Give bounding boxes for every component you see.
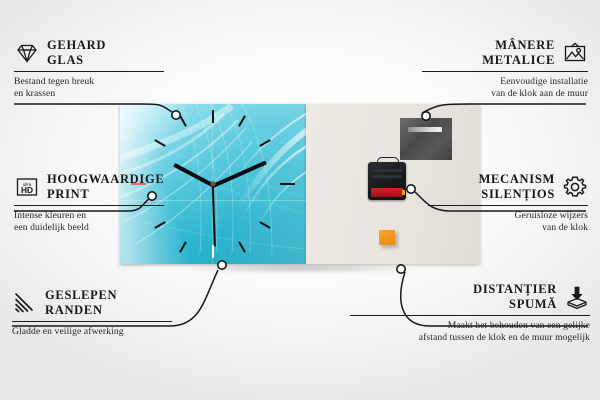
mechanism-hanging-bail	[377, 157, 399, 167]
feature-heading: MÂNERE METALICE	[422, 38, 588, 68]
feature-geslepen-randen: GESLEPEN RANDEN Gladde en veilige afwerk…	[12, 288, 172, 338]
feature-mecanism-silentios: MECANISM SILENȚIOS Geruisloze wijzers va…	[428, 172, 588, 235]
feature-title: MÂNERE METALICE	[482, 38, 555, 68]
feature-title: MECANISM SILENȚIOS	[479, 172, 555, 202]
product-drop-shadow	[128, 264, 474, 275]
feature-rule	[14, 71, 164, 72]
beveled-edges-icon	[12, 290, 38, 316]
feature-heading: ultra HD HOOGWAARDIGE PRINT	[14, 172, 164, 202]
mechanism-ridge	[372, 169, 402, 172]
feature-rule	[422, 71, 588, 72]
feature-title: DISTANȚIER SPUMĂ	[473, 282, 557, 312]
ultra-hd-icon: ultra HD	[14, 174, 40, 200]
feature-heading: GEHARD GLAS	[14, 38, 164, 68]
metal-hanger	[400, 118, 452, 160]
feature-description: Intense kleuren en een duidelijk beeld	[14, 210, 164, 236]
feature-rule	[428, 205, 588, 206]
feature-rule	[12, 321, 172, 322]
clock-tick	[212, 245, 214, 258]
feature-rule	[350, 315, 590, 316]
hanger-slot	[408, 127, 442, 132]
svg-text:HD: HD	[21, 185, 33, 195]
feature-title: GESLEPEN RANDEN	[45, 288, 117, 318]
feature-distantier-spuma: DISTANȚIER SPUMĂ Maakt het behouden van …	[350, 282, 590, 345]
gear-icon	[562, 174, 588, 200]
picture-frame-hook-icon	[562, 40, 588, 66]
diamond-icon	[14, 40, 40, 66]
product-image-group	[120, 104, 480, 269]
aa-battery	[371, 188, 403, 197]
quartz-mechanism	[368, 162, 406, 200]
feature-hoogwaardige-print: ultra HD HOOGWAARDIGE PRINT Intense kleu…	[14, 172, 164, 235]
clock-tick	[280, 183, 295, 185]
foam-spacer	[379, 230, 395, 245]
feature-title: GEHARD GLAS	[47, 38, 106, 68]
feature-heading: MECANISM SILENȚIOS	[428, 172, 588, 202]
feature-rule	[14, 205, 164, 206]
feature-description: Eenvoudige installatie van de klok aan d…	[422, 76, 588, 102]
clock-center-hub	[211, 182, 216, 187]
feature-manere-metalice: MÂNERE METALICE Eenvoudige installatie v…	[422, 38, 588, 101]
feature-gehard-glas: GEHARD GLAS Bestand tegen breuk en krass…	[14, 38, 164, 101]
feature-title: HOOGWAARDIGE PRINT	[47, 172, 164, 202]
battery-terminal	[402, 190, 405, 195]
feature-description: Gladde en veilige afwerking	[12, 326, 172, 339]
mechanism-ridge	[372, 175, 402, 178]
feature-heading: GESLEPEN RANDEN	[12, 288, 172, 318]
feature-description: Geruisloze wijzers van de klok	[428, 210, 588, 236]
feature-description: Bestand tegen breuk en krassen	[14, 76, 164, 102]
feature-description: Maakt het behouden van een gelijke afsta…	[350, 320, 590, 346]
spacer-arrow-icon	[564, 284, 590, 310]
clock-tick	[212, 110, 214, 123]
feature-heading: DISTANȚIER SPUMĂ	[350, 282, 590, 312]
infographic-canvas: GEHARD GLAS Bestand tegen breuk en krass…	[0, 0, 600, 400]
